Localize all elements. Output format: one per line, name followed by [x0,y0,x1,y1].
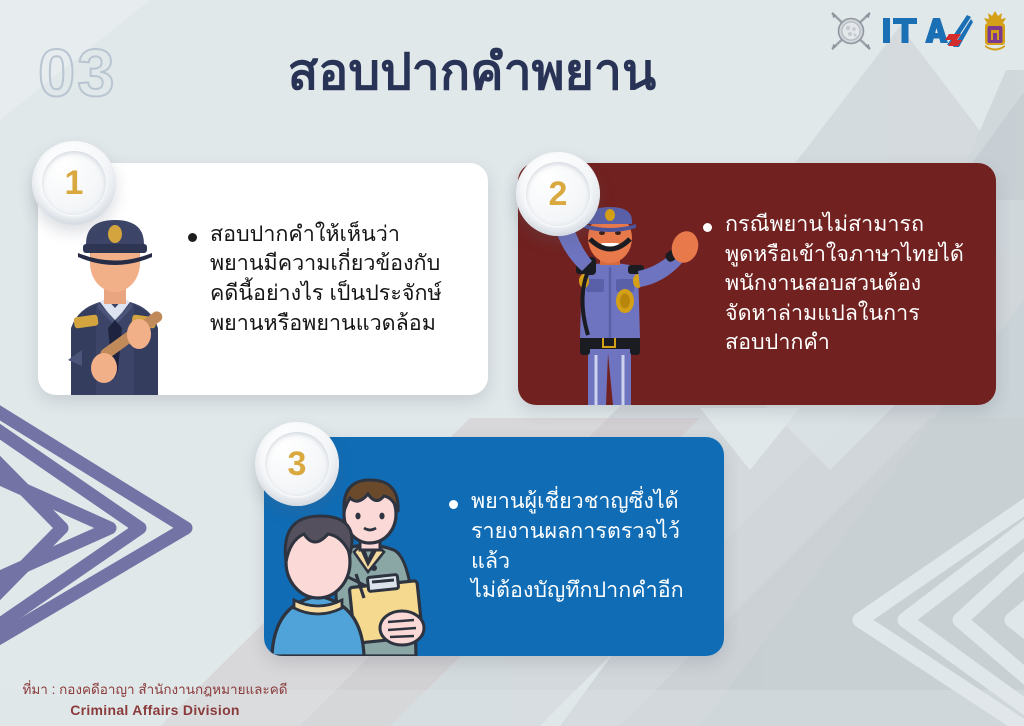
footer-source-thai: ที่มา : กองคดีอาญา สำนักงานกฎหมายและคดี [10,680,300,700]
step-badge-1-number: 1 [65,166,84,200]
slide-root: 03 สอบปากคำพยาน [0,0,1024,726]
card-3-body: พยานผู้เชี่ยวชาญซึ่งได้ รายงานผลการตรวจไ… [449,487,724,606]
step-badge-2: 2 [516,152,600,236]
card-2-text: กรณีพยานไม่สามารถ พูดหรือเข้าใจภาษาไทยได… [725,210,964,358]
step-badge-3-number: 3 [288,447,307,481]
police-officer-figure-icon [38,210,188,395]
card-3-text: พยานผู้เชี่ยวชาญซึ่งได้ รายงานผลการตรวจไ… [471,487,708,606]
step-badge-2-number: 2 [549,177,568,211]
logo-bar [828,7,1010,55]
thai-police-badge-emblem-icon [828,9,874,53]
footer-source: ที่มา : กองคดีอาญา สำนักงานกฎหมายและคดี … [10,680,300,720]
bullet-point-icon [188,233,197,242]
card-1-text: สอบปากคำให้เห็นว่า พยานมีความเกี่ยวข้องก… [210,220,442,339]
step-badge-1: 1 [32,141,116,225]
traffic-officer-figure-icon [518,205,703,405]
footer-source-english: Criminal Affairs Division [10,700,300,720]
bullet-point-icon [703,223,712,232]
card-1-body: สอบปากคำให้เห็นว่า พยานมีความเกี่ยวข้องก… [188,220,488,339]
ita-logo-icon [881,14,973,48]
royal-garuda-emblem-icon [980,10,1010,52]
card-2-body: กรณีพยานไม่สามารถ พูดหรือเข้าใจภาษาไทยได… [703,210,996,358]
bullet-point-icon [449,500,458,509]
step-badge-3: 3 [255,422,339,506]
